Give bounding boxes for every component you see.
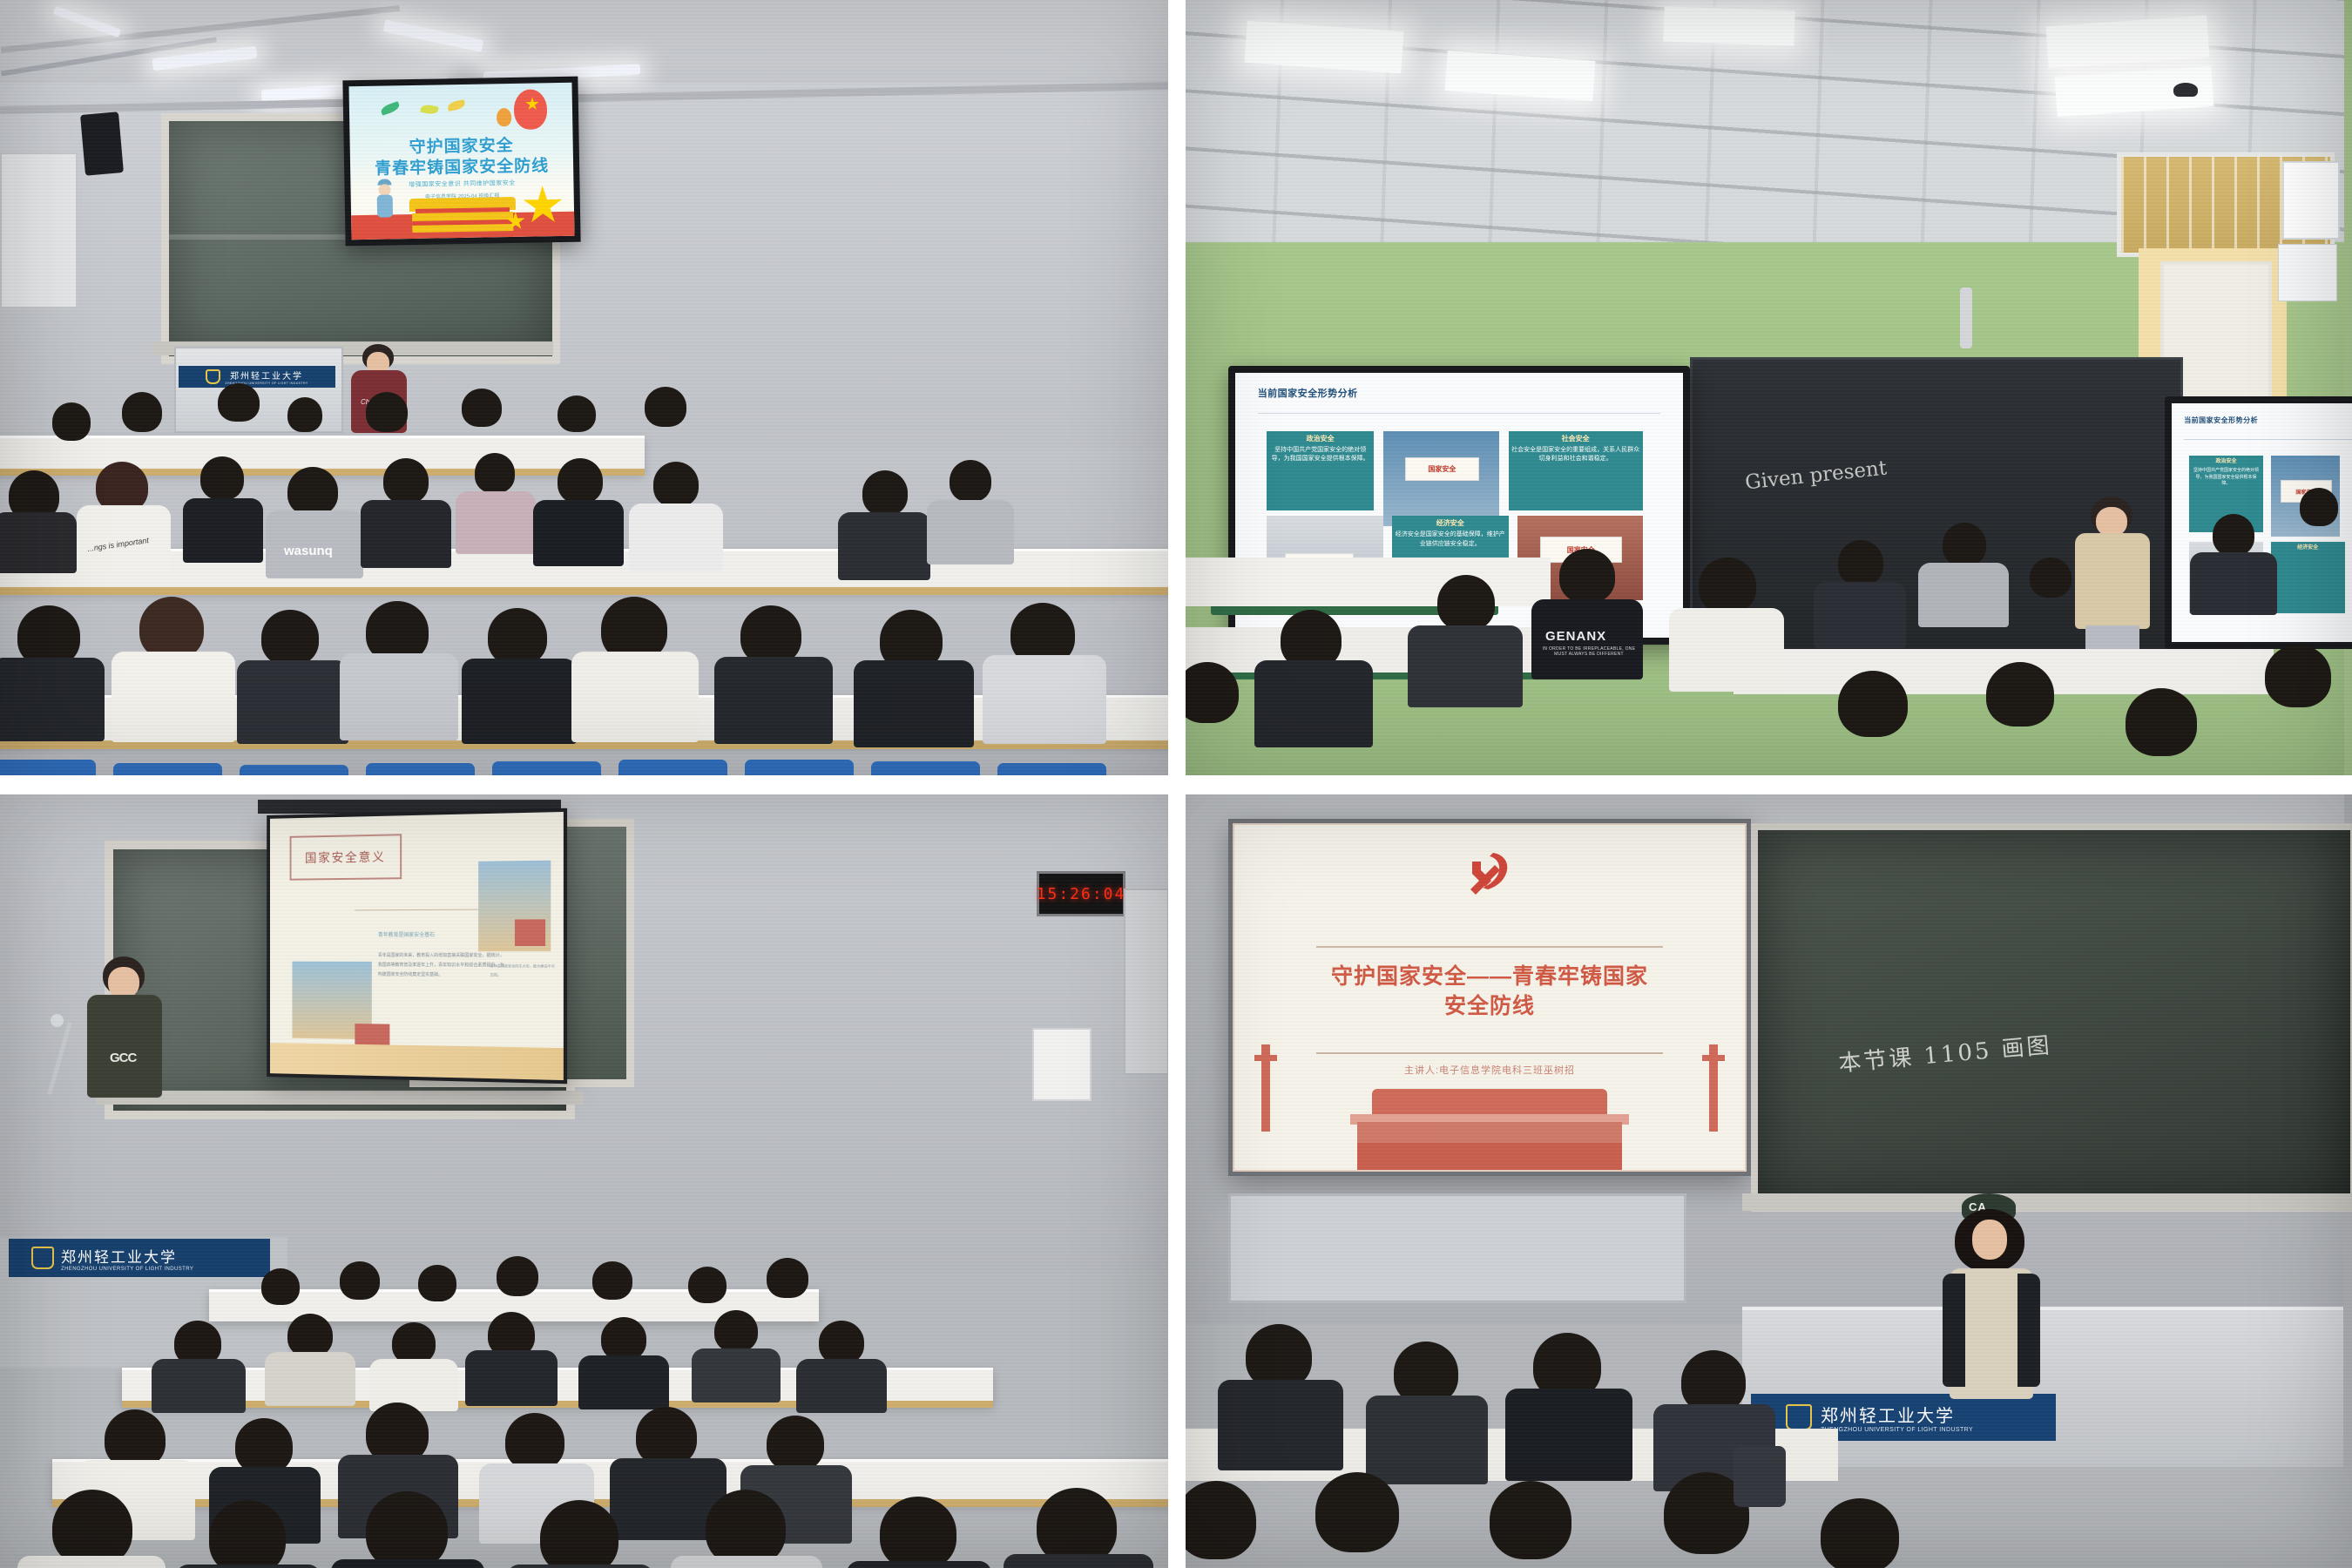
slide-title-security: 守护国家安全 青春牢铸国家安全防线 增强国家安全意识 共同维护国家安全 电子信息… [348, 83, 574, 240]
wall-cabinet [0, 152, 78, 308]
jacket-slogan-text: IN ORDER TO BE IRREPLACEABLE, ONE MUST A… [1537, 646, 1641, 657]
jacket-brand-text: GENANX [1545, 629, 1606, 644]
slide-national-security-meaning: 国家安全意义 青年教育是国家安全基石 青年是国家的未来，教育投入的增加直接关联国… [270, 812, 564, 1080]
slide-card: 经济安全 [2271, 542, 2345, 613]
slide-title: 当前国家安全形势分析 [2184, 416, 2258, 425]
huabiao-pillar-icon [1702, 1044, 1725, 1149]
slide-title: 守护国家安全——青春牢铸国家 安全防线 [1260, 963, 1719, 1022]
ceiling-light [1663, 6, 1794, 45]
panel-bottom-right: 守护国家安全——青春牢铸国家 安全防线 主讲人:电子信息学院电科三班巫树招 [1176, 784, 2352, 1568]
presenter: CA [1943, 1193, 2038, 1402]
chalk-rail [1742, 1193, 2352, 1211]
panel-bottom-left: 15:26:04 国家安全意义 青年教育是国家安全基石 青年是国家的未来，教育投… [0, 784, 1176, 1568]
photo-collage: 守护国家安全 青春牢铸国家安全防线 增强国家安全意识 共同维护国家安全 电子信息… [0, 0, 2352, 1568]
blackboard-text: Given present [1744, 457, 1888, 495]
balloon-icon [514, 89, 548, 130]
slide-accent-block [515, 919, 545, 946]
chalk-rail [96, 1091, 584, 1105]
university-name-en: ZHENGZHOU UNIVERSITY OF LIGHT INDUSTRY [61, 1267, 193, 1272]
slide-badge: 国家安全 [1405, 457, 1478, 480]
slide-body: 青年是国家的未来，教育投入的增加直接关联国家安全。据统计，我国高等教育普及率逐年… [378, 951, 509, 981]
microphone-icon [51, 1014, 64, 1027]
led-clock-value: 15:26:04 [1037, 885, 1126, 903]
wall-speaker [80, 112, 124, 176]
university-logo-icon [1786, 1404, 1812, 1430]
balloon-icon [497, 108, 511, 126]
university-logo-icon [206, 369, 220, 384]
projection-screen: 守护国家安全——青春牢铸国家 安全防线 主讲人:电子信息学院电科三班巫树招 [1228, 819, 1751, 1176]
wall-shelf [1228, 1193, 1686, 1303]
wall-pipe [1960, 287, 1972, 348]
tiananmen-artwork-icon [1306, 1066, 1673, 1170]
party-emblem-icon [1462, 849, 1517, 903]
dove-icon [447, 100, 466, 112]
podium-banner: 郑州轻工业大学 ZHENGZHOU UNIVERSITY OF LIGHT IN… [179, 366, 335, 388]
university-name-cn: 郑州轻工业大学 [230, 368, 303, 382]
presenter [2073, 497, 2152, 671]
panel-top-right: Given present 当前国家安全形势分析 政治安全 坚持中国共产党国家安… [1176, 0, 2352, 784]
led-clock-icon: 15:26:04 [1037, 871, 1125, 916]
slide-card: 社会安全 社会安全是国家安全的重要组成，关系人民群众切身利益和社会和谐稳定。 [1509, 431, 1643, 510]
university-name-cn: 郑州轻工业大学 [61, 1245, 193, 1267]
slide-side-body: 青年是国家安全的生力军，能力建设不可忽视。 [490, 962, 558, 979]
desk [1176, 627, 1585, 672]
desk [1185, 558, 1551, 606]
slide-card: 政治安全 坚持中国共产党国家安全的绝对领导，为我国国家安全提供根本保障。 [1267, 431, 1374, 510]
university-name-cn: 郑州轻工业大学 [1821, 1402, 1973, 1427]
presenter: GCC [87, 956, 162, 1113]
dome-camera-icon [2173, 83, 2198, 97]
mascot-icon [375, 179, 395, 219]
university-logo-icon [31, 1247, 54, 1269]
huabiao-pillar-icon [1254, 1044, 1277, 1149]
wall-poster [2282, 161, 2340, 240]
radiator [1124, 889, 1169, 1075]
university-name-en: ZHENGZHOU UNIVERSITY OF LIGHT INDUSTRY [1821, 1427, 1973, 1433]
tiananmen-icon [409, 197, 517, 233]
projection-screen: 守护国家安全 青春牢铸国家安全防线 增强国家安全意识 共同维护国家安全 电子信息… [342, 77, 580, 247]
wall-notice [1032, 1028, 1092, 1101]
slide-bullet: 青年教育是国家安全基石 [378, 930, 435, 938]
panel-top-left: 守护国家安全 青春牢铸国家安全防线 增强国家安全意识 共同维护国家安全 电子信息… [0, 0, 1176, 784]
slide-section-label: 国家安全意义 [289, 834, 402, 880]
slide-title: 当前国家安全形势分析 [1258, 386, 1358, 400]
backpack [1734, 1446, 1786, 1507]
dove-icon [420, 104, 439, 116]
audience-area [0, 1272, 1168, 1568]
chalkboard [1751, 823, 2352, 1212]
wall-notice [2278, 244, 2337, 301]
slide-title-security-defense: 守护国家安全——青春牢铸国家 安全防线 主讲人:电子信息学院电科三班巫树招 [1233, 823, 1747, 1172]
collage-divider-horizontal [0, 775, 2352, 794]
projection-screen: 国家安全意义 青年教育是国家安全基石 青年是国家的未来，教育投入的增加直接关联国… [267, 808, 567, 1085]
slide-title: 守护国家安全 青春牢铸国家安全防线 [350, 135, 574, 180]
dove-icon [380, 101, 401, 116]
audience-area: ...ngs is important wasunq [0, 418, 1168, 784]
